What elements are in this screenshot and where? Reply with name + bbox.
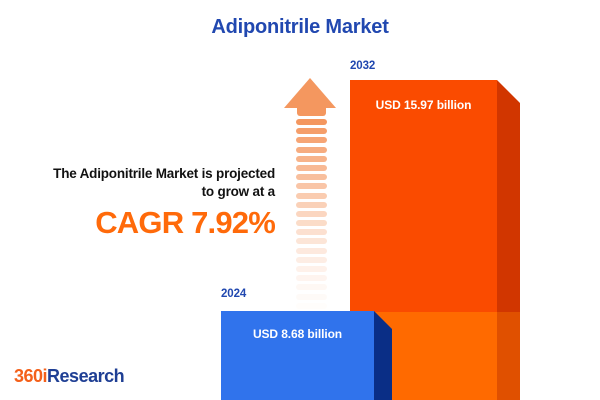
infographic-canvas: Adiponitrile Market 2032 USD 15.97 billi… xyxy=(0,0,600,400)
arrow-stripe xyxy=(296,284,327,290)
arrow-stripe xyxy=(296,248,327,254)
bar-2032-side-face xyxy=(497,80,520,312)
arrow-stripe xyxy=(296,193,327,199)
bar-2032-side-face-lower xyxy=(497,312,520,400)
arrow-stripe xyxy=(296,128,327,134)
arrow-stripe xyxy=(296,156,327,162)
bar-2032-front-face xyxy=(350,80,497,312)
arrow-stripe xyxy=(296,165,327,171)
bar-value-2032: USD 15.97 billion xyxy=(350,98,497,112)
arrow-stripe xyxy=(296,229,327,235)
arrow-stripe xyxy=(296,119,327,125)
bar-year-label-2024: 2024 xyxy=(221,288,246,300)
arrow-stripe xyxy=(296,238,327,244)
arrow-stripe xyxy=(296,202,327,208)
bar-value-2024: USD 8.68 billion xyxy=(221,327,374,341)
cagr-lead-line-1: The Adiponitrile Market is projected xyxy=(10,165,275,183)
arrow-head-shape xyxy=(284,78,336,108)
page-title: Adiponitrile Market xyxy=(0,16,600,39)
arrow-stripe xyxy=(296,220,327,226)
arrow-stripe xyxy=(296,137,327,143)
arrow-stripe xyxy=(296,257,327,263)
bar-year-label-2032: 2032 xyxy=(350,60,375,72)
cagr-value: CAGR 7.92% xyxy=(10,207,275,240)
arrow-stripe xyxy=(296,266,327,272)
arrow-stripe xyxy=(296,294,327,300)
cagr-lead-line-2: to grow at a xyxy=(10,183,275,201)
arrow-neck-shape xyxy=(297,106,326,116)
brand-logo-text: Research xyxy=(47,366,124,386)
arrow-stripe xyxy=(296,174,327,180)
cagr-callout: The Adiponitrile Market is projected to … xyxy=(10,165,275,240)
arrow-stripe xyxy=(296,147,327,153)
arrow-stripe xyxy=(296,211,327,217)
brand-logo-mark: 360i xyxy=(14,366,47,386)
arrow-stripe xyxy=(296,303,327,309)
up-arrow-icon xyxy=(284,78,342,298)
bar-2024-front-face xyxy=(221,311,374,400)
arrow-stripe-stack xyxy=(296,119,327,297)
brand-logo: 360iResearch xyxy=(14,366,124,387)
arrow-stripe xyxy=(296,275,327,281)
arrow-stripe xyxy=(296,183,327,189)
